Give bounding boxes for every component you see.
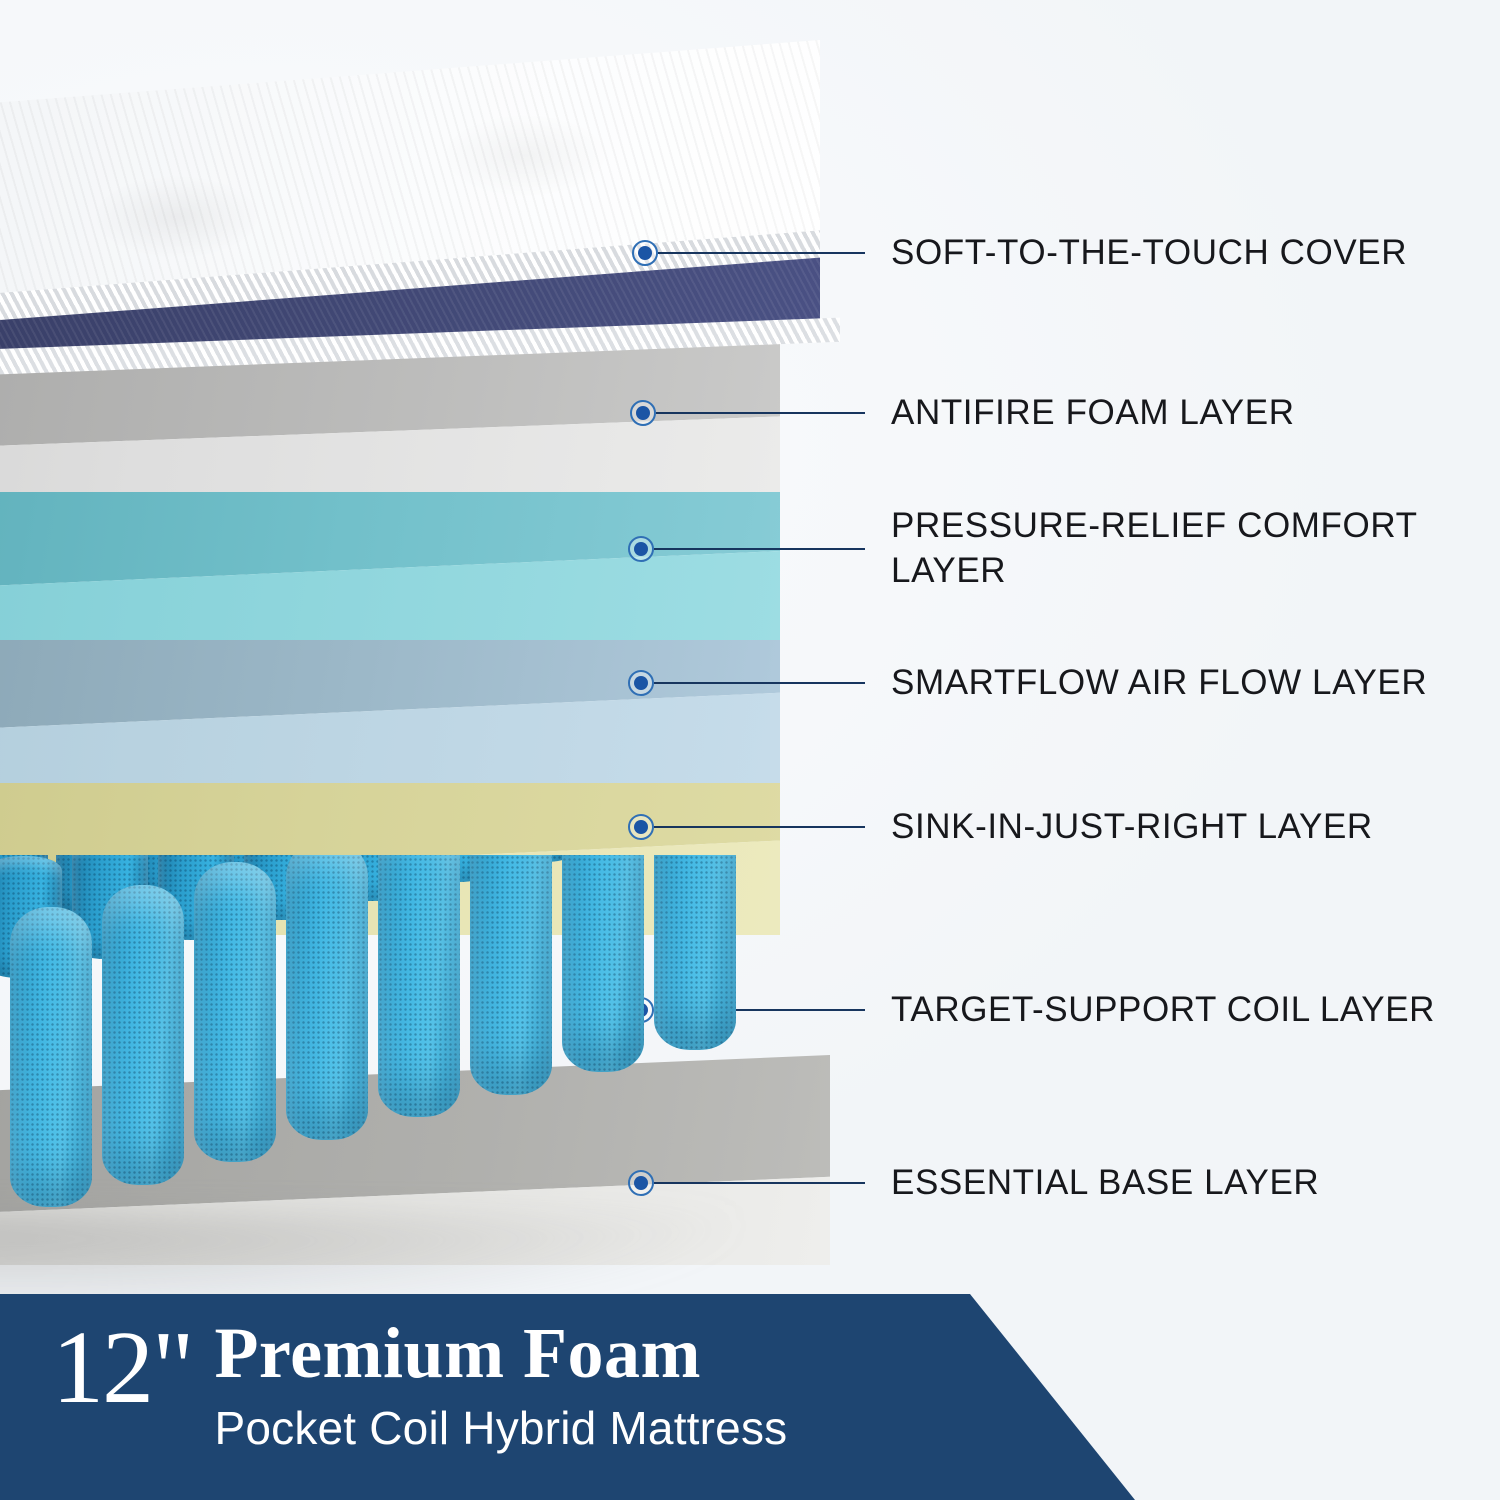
callout-pressure-relief-comfort-layer: PRESSURE-RELIEF COMFORT LAYER [628,504,1418,594]
callout-dot-icon [628,814,654,840]
callout-dot-icon [628,536,654,562]
callout-leader-line [654,1182,865,1184]
callout-dot-icon [628,670,654,696]
banner-size-value: 12" [52,1316,192,1420]
layer-target-support-coil [0,855,810,1275]
callout-dot-icon [628,1170,654,1196]
pocket-coil [10,907,92,1207]
callout-dot-icon [630,400,656,426]
pocket-coil [378,855,460,1117]
product-banner: 12" Premium Foam Pocket Coil Hybrid Matt… [0,1294,1135,1500]
callout-leader-line [654,682,865,684]
pocket-coil [286,855,368,1140]
callout-leader-line [654,548,865,550]
pocket-coil [654,855,736,1050]
callout-leader-line [656,412,865,414]
callout-antifire-foam-layer: ANTIFIRE FOAM LAYER [630,391,1295,436]
callout-label-pressure-relief-comfort-layer: PRESSURE-RELIEF COMFORT LAYER [891,504,1418,594]
callout-sink-in-just-right-layer: SINK-IN-JUST-RIGHT LAYER [628,805,1373,850]
callout-label-essential-base-layer: ESSENTIAL BASE LAYER [891,1161,1319,1206]
callout-label-soft-to-the-touch-cover: SOFT-TO-THE-TOUCH COVER [891,231,1407,276]
pocket-coil [562,855,644,1072]
banner-subtitle: Pocket Coil Hybrid Mattress [214,1400,787,1458]
pocket-coil [470,855,552,1095]
callout-target-support-coil-layer: TARGET-SUPPORT COIL LAYER [628,988,1435,1033]
pocket-coil [194,862,276,1162]
callout-leader-line [658,252,865,254]
callout-dot-icon [632,240,658,266]
callout-label-sink-in-just-right-layer: SINK-IN-JUST-RIGHT LAYER [891,805,1373,850]
callout-soft-to-the-touch-cover: SOFT-TO-THE-TOUCH COVER [632,231,1407,276]
callout-label-antifire-foam-layer: ANTIFIRE FOAM LAYER [891,391,1295,436]
callout-leader-line [654,826,865,828]
callout-label-smartflow-air-flow-layer: SMARTFLOW AIR FLOW LAYER [891,661,1427,706]
banner-text-block: 12" Premium Foam Pocket Coil Hybrid Matt… [52,1316,787,1457]
callout-label-target-support-coil-layer: TARGET-SUPPORT COIL LAYER [891,988,1435,1033]
banner-title: Premium Foam [214,1316,787,1392]
callout-essential-base-layer: ESSENTIAL BASE LAYER [628,1161,1319,1206]
pocket-coil [102,885,184,1185]
callout-smartflow-air-flow-layer: SMARTFLOW AIR FLOW LAYER [628,661,1427,706]
product-infographic: SOFT-TO-THE-TOUCH COVER ANTIFIRE FOAM LA… [0,0,1500,1500]
